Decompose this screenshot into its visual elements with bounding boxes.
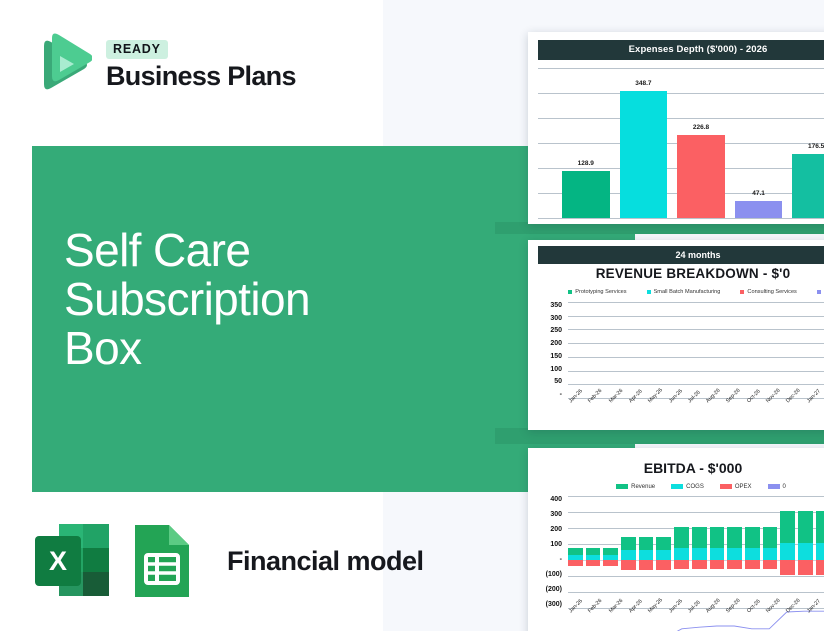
expenses-bar-value: 176.5 bbox=[792, 143, 824, 150]
expenses-bar-group: 128.9348.7226.847.1176.5 bbox=[562, 72, 824, 218]
google-sheets-icon bbox=[129, 521, 195, 601]
legend-swatch bbox=[616, 484, 628, 489]
legend-swatch bbox=[768, 484, 780, 489]
microsoft-excel-icon: X bbox=[33, 520, 111, 602]
chart-card-expenses-depth[interactable]: Expenses Depth ($'000) - 2026 128.9348.7… bbox=[528, 32, 824, 224]
brand-logo: READY Business Plans bbox=[30, 28, 360, 100]
legend-item: Prototyping Services bbox=[568, 289, 626, 295]
expenses-bar-fill bbox=[677, 135, 725, 218]
revenue-y-axis: 35030025020015010050- bbox=[528, 302, 566, 398]
legend-swatch bbox=[647, 290, 651, 294]
expenses-chart-title: Expenses Depth ($'000) - 2026 bbox=[538, 40, 824, 60]
expenses-bar: 128.9 bbox=[562, 171, 610, 218]
chart-card-revenue-breakdown[interactable]: 24 months REVENUE BREAKDOWN - $'0 Protot… bbox=[528, 240, 824, 430]
y-tick: 200 bbox=[550, 340, 562, 347]
y-tick: 350 bbox=[550, 302, 562, 309]
expenses-bar-value: 348.7 bbox=[620, 80, 668, 87]
expenses-bar: 348.7 bbox=[620, 91, 668, 218]
y-tick: 50 bbox=[554, 378, 562, 385]
y-tick: 300 bbox=[550, 511, 562, 518]
legend-item: 0 bbox=[768, 484, 786, 490]
headline-line-2: Subscription bbox=[64, 275, 484, 324]
footer-label: Financial model bbox=[227, 546, 424, 577]
gridline bbox=[538, 68, 824, 69]
play-triangle-logo-icon bbox=[30, 32, 92, 96]
y-tick: 300 bbox=[550, 315, 562, 322]
legend-label: Consulting Services bbox=[747, 289, 796, 295]
legend-item: OPEX bbox=[720, 484, 752, 490]
revenue-plot-area bbox=[568, 302, 824, 398]
y-tick: 250 bbox=[550, 327, 562, 334]
ebitda-y-axis: 400300200100-(100)(200)(300) bbox=[528, 496, 566, 608]
y-tick: 100 bbox=[550, 541, 562, 548]
expenses-bar-value: 128.9 bbox=[562, 160, 610, 167]
legend-swatch bbox=[671, 484, 683, 489]
legend-swatch bbox=[568, 290, 572, 294]
ebitda-plot-area bbox=[568, 496, 824, 608]
y-tick: (300) bbox=[546, 601, 562, 608]
y-tick: - bbox=[560, 391, 562, 398]
legend-swatch bbox=[720, 484, 732, 489]
footer-format-row: X Financial model bbox=[33, 518, 424, 604]
ready-badge: READY bbox=[106, 40, 168, 59]
y-tick: (200) bbox=[546, 586, 562, 593]
legend-label: OPEX bbox=[735, 484, 752, 490]
page-title: Self Care Subscription Box bbox=[64, 226, 484, 374]
expenses-bar: 47.1 bbox=[735, 201, 783, 218]
revenue-x-axis: Jan-26Feb-26Mar-26Apr-26May-26Jun-26Jul-… bbox=[568, 398, 824, 430]
green-accent-bar-middle bbox=[495, 428, 824, 444]
y-tick: 100 bbox=[550, 366, 562, 373]
chart-card-ebitda[interactable]: EBITDA - $'000 RevenueCOGSOPEX0 40030020… bbox=[528, 448, 824, 631]
legend-swatch bbox=[817, 290, 821, 294]
legend-label: COGS bbox=[686, 484, 704, 490]
legend-item: Consulting Services bbox=[740, 289, 796, 295]
y-tick: 200 bbox=[550, 526, 562, 533]
expenses-bar-fill bbox=[792, 154, 824, 218]
expenses-bar-value: 226.8 bbox=[677, 124, 725, 131]
legend-label: Prototyping Services bbox=[575, 289, 626, 295]
legend-label: 0 bbox=[783, 484, 786, 490]
y-tick: - bbox=[560, 556, 562, 563]
expenses-bar-fill bbox=[562, 171, 610, 218]
legend-label: Small Batch Manufacturing bbox=[654, 289, 721, 295]
expenses-bar: 226.8 bbox=[677, 135, 725, 218]
expenses-bar: 176.5 bbox=[792, 154, 824, 218]
expenses-bar-value: 47.1 bbox=[735, 190, 783, 197]
ebitda-chart-title: EBITDA - $'000 bbox=[538, 460, 824, 476]
revenue-period-ribbon: 24 months bbox=[538, 246, 824, 264]
revenue-legend: Prototyping ServicesSmall Batch Manufact… bbox=[550, 286, 824, 297]
legend-label: Revenue bbox=[631, 484, 655, 490]
gridline bbox=[538, 218, 824, 219]
legend-item: Revenue bbox=[616, 484, 655, 490]
brand-name: Business Plans bbox=[106, 62, 296, 90]
revenue-bar-group bbox=[568, 302, 824, 398]
legend-item: COGS bbox=[671, 484, 704, 490]
svg-text:X: X bbox=[49, 546, 67, 576]
poster-canvas: READY Business Plans Self Care Subscript… bbox=[0, 0, 824, 631]
legend-item: - bbox=[817, 289, 824, 295]
headline-line-3: Box bbox=[64, 324, 484, 373]
legend-swatch bbox=[740, 290, 744, 294]
ebitda-x-axis: Jan-26Feb-26Mar-26Apr-26May-26Jun-26Jul-… bbox=[568, 608, 824, 631]
y-tick: (100) bbox=[546, 571, 562, 578]
expenses-plot-area: 128.9348.7226.847.1176.5 bbox=[538, 68, 824, 218]
y-tick: 400 bbox=[550, 496, 562, 503]
revenue-chart-title: REVENUE BREAKDOWN - $'0 bbox=[538, 266, 824, 281]
headline-line-1: Self Care bbox=[64, 226, 484, 275]
expenses-bar-fill bbox=[735, 201, 783, 218]
expenses-bar-fill bbox=[620, 91, 668, 218]
legend-item: Small Batch Manufacturing bbox=[647, 289, 721, 295]
y-tick: 150 bbox=[550, 353, 562, 360]
ebitda-legend: RevenueCOGSOPEX0 bbox=[558, 481, 824, 492]
